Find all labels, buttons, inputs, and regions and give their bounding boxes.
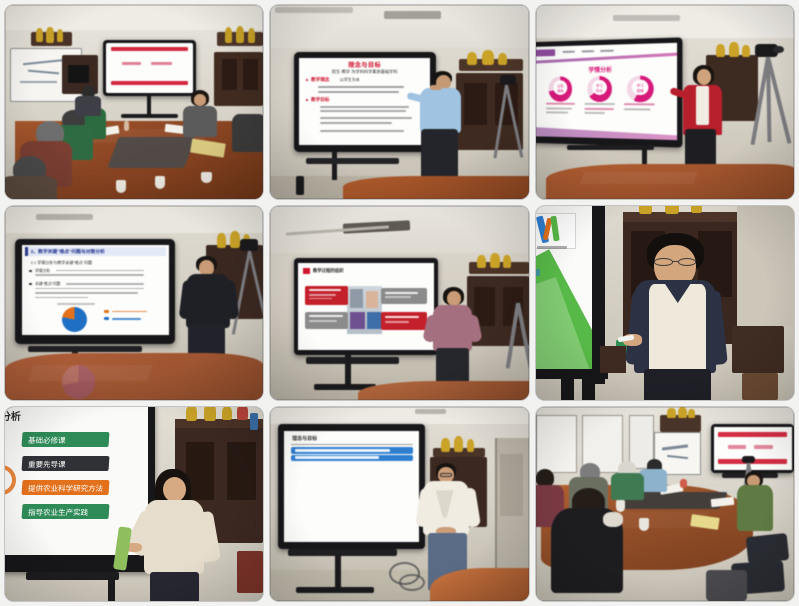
slide-bar-label: 基础必修课 bbox=[28, 434, 66, 445]
photo-conference-room-audience bbox=[536, 407, 794, 601]
donut-label: 学习困难 bbox=[627, 82, 653, 92]
photo-cell-presenter-closeup-vest[interactable] bbox=[536, 206, 794, 400]
presentation-display: 理念与目标 招生·教学·为学科科学素质基础学科 教学理念 以学生为本 教学目标 bbox=[294, 52, 436, 153]
slide-bullet-note: 以学生为本 bbox=[340, 77, 360, 83]
slide-green-graphic-cover bbox=[536, 206, 598, 373]
photo-cell-presenter-male-black-sweater[interactable]: 2、教学关键"难点"问题与对策分析 2.1 学情分析与教学关键"难点"问题 学情… bbox=[5, 206, 263, 400]
photo-collage-grid: 理念与目标 招生·教学·为学科科学素质基础学科 教学理念 以学生为本 教学目标 bbox=[0, 0, 799, 606]
presentation-display: 2、教学关键"难点"问题与对策分析 2.1 学情分析与教学关键"难点"问题 学情… bbox=[15, 239, 175, 344]
slide-bar: 基础必修课 bbox=[21, 432, 109, 447]
slide-bullet-label: 教学目标 bbox=[311, 97, 329, 103]
presentation-display: 学情分析 认知基础 学习特点 学习困难 bbox=[536, 37, 683, 147]
slide-bar-label: 指导农业生产实践 bbox=[28, 506, 89, 517]
slide-bar-label: 重要先导课 bbox=[28, 458, 66, 469]
presentation-display: 理念与目标 bbox=[278, 424, 425, 548]
slide-bar: 指导农业生产实践 bbox=[21, 504, 109, 519]
slide-bullet-label: 关键"难点"问题 bbox=[35, 282, 60, 287]
photo-presenter-blue-shirt: 理念与目标 招生·教学·为学科科学素质基础学科 教学理念 以学生为本 教学目标 bbox=[270, 5, 528, 199]
slide-outline-with-pie: 2、教学关键"难点"问题与对策分析 2.1 学情分析与教学关键"难点"问题 学情… bbox=[22, 245, 169, 335]
photo-presenter-cream-sweater: 分析 基础必修课 重要先导课 提供农业科学研究方法 指导农业生产实践 bbox=[5, 407, 263, 601]
slide-subtitle: 招生·教学·为学科科学素质基础学科 bbox=[304, 69, 424, 75]
slide-title: 理念与目标 bbox=[292, 435, 317, 442]
photo-cell-presenter-male-blue-shirt[interactable]: 理念与目标 招生·教学·为学科科学素质基础学科 教学理念 以学生为本 教学目标 bbox=[270, 5, 528, 199]
slide-bar: 提供农业科学研究方法 bbox=[21, 480, 109, 495]
photo-presenter-closeup bbox=[536, 206, 794, 400]
slide-title: 2、教学关键"难点"问题与对策分析 bbox=[31, 248, 167, 255]
photo-presenter-red-coat: 学情分析 认知基础 学习特点 学习困难 bbox=[536, 5, 794, 199]
slide-title: 理念与目标 bbox=[299, 60, 430, 69]
photo-cell-presenter-female-cream-sweater[interactable]: 分析 基础必修课 重要先导课 提供农业科学研究方法 指导农业生产实践 bbox=[5, 407, 263, 601]
glasses-icon bbox=[678, 258, 696, 266]
photo-presenter-white-sweater: 理念与目标 bbox=[270, 407, 528, 601]
slide-bar: 重要先导课 bbox=[21, 456, 109, 471]
presentation-display: 教学过程的组织 bbox=[294, 258, 439, 355]
slide-bar-label: 提供农业科学研究方法 bbox=[28, 482, 104, 493]
pie-chart bbox=[62, 307, 87, 332]
donut-label: 认知基础 bbox=[549, 83, 573, 93]
slide-title: 学情分析 bbox=[536, 63, 678, 74]
slide-crimson-banner bbox=[714, 427, 792, 470]
photo-cell-conference-room-wide-view[interactable] bbox=[5, 5, 263, 199]
presentation-display bbox=[103, 40, 196, 96]
photo-presenter-mauve-top: 教学过程的组织 bbox=[270, 206, 528, 400]
slide-title: 教学过程的组织 bbox=[313, 268, 344, 274]
slide-crimson-banner bbox=[106, 43, 193, 93]
photo-cell-presenter-male-white-sweater[interactable]: 理念与目标 bbox=[270, 407, 528, 601]
photo-presenter-black-sweater: 2、教学关键"难点"问题与对策分析 2.1 学情分析与教学关键"难点"问题 学情… bbox=[5, 206, 263, 400]
presentation-display bbox=[711, 424, 794, 473]
slide-bulleted-outline: 理念与目标 招生·教学·为学科科学素质基础学科 教学理念 以学生为本 教学目标 bbox=[299, 58, 430, 146]
slide-blue-highlight-paragraph: 理念与目标 bbox=[284, 431, 419, 543]
slide-three-donut-dashboard: 学情分析 认知基础 学习特点 学习困难 bbox=[536, 43, 678, 141]
slide-bullet-label: 学情分析 bbox=[35, 269, 50, 274]
slide-bullet-label: 教学理念 bbox=[311, 77, 329, 83]
donut-label: 学习特点 bbox=[587, 82, 612, 92]
slide-title: 分析 bbox=[5, 408, 21, 423]
glasses-icon bbox=[440, 473, 453, 477]
slide-four-block-matrix: 教学过程的组织 bbox=[298, 263, 434, 349]
glasses-icon bbox=[654, 258, 672, 266]
photo-conference-room-wide bbox=[5, 5, 263, 199]
photo-cell-presenter-female-mauve-top[interactable]: 教学过程的组织 bbox=[270, 206, 528, 400]
slide-subtitle: 2.1 学情分析与教学关键"难点"问题 bbox=[31, 260, 93, 266]
photo-cell-presenter-female-red-coat[interactable]: 学情分析 认知基础 学习特点 学习困难 bbox=[536, 5, 794, 199]
photo-cell-conference-room-audience-view[interactable] bbox=[536, 407, 794, 601]
